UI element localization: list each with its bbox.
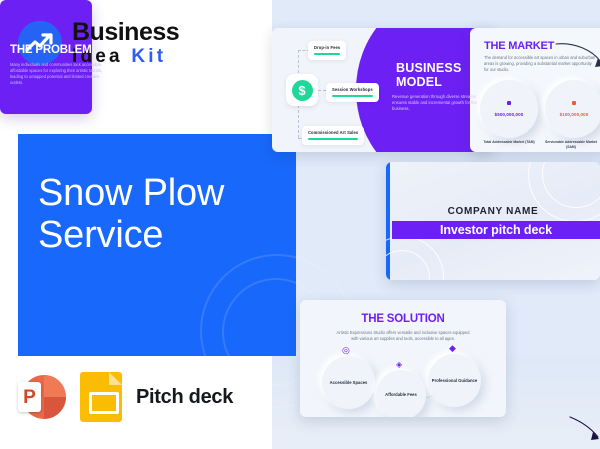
solution-body: Artistic Expressions Studio offers versa… [336,330,470,342]
curved-arrow-icon [554,38,600,72]
brand-logo: Business Idea Kit [18,20,179,66]
slide-business-model[interactable]: $ Drop-in Fees Session Workshops Commiss… [272,28,494,152]
slide-investor-pitch-deck[interactable]: COMPANY NAME Investor pitch deck [386,162,600,280]
hero-title: Snow Plow Service [38,172,288,256]
format-badges: P Pitch deck [18,372,233,422]
metric-dot [572,101,576,105]
solution-title: THE SOLUTION [300,313,506,325]
slide-the-solution[interactable]: THE SOLUTION Artistic Expressions Studio… [300,300,506,417]
powerpoint-quadrant-bottom [44,397,66,419]
underline-rule [314,53,340,55]
solution-item-label: Professional Guidance [432,378,477,383]
brand-wordmark: Business Idea Kit [72,20,179,66]
solution-item[interactable]: Professional Guidance [428,354,481,407]
problem-title: THE PROBLEM [10,44,92,56]
market-metric: $100,000,000 [545,80,600,138]
solution-item-label: Accessible Spaces [330,380,368,385]
business-model-item[interactable]: Session Workshops [326,83,379,102]
solution-item[interactable]: Affordable Fees [376,370,426,417]
pitch-company-name: COMPANY NAME [386,206,600,217]
google-slides-icon [80,372,122,422]
format-badge-label: Pitch deck [136,386,233,409]
powerpoint-letter: P [23,388,36,407]
metric-value: $100,000,000 [560,112,589,117]
market-title: THE MARKET [484,40,554,52]
slides-frame [89,392,119,414]
diamond-icon: ◆ [449,344,456,353]
business-model-item[interactable]: Drop-in Fees [308,41,346,60]
powerpoint-quadrant-top [44,375,66,397]
dollar-coin-icon: $ [286,74,318,106]
metric-caption: Serviceable Addressable Market (SAM) [544,140,598,149]
brand-line-1: Business [72,20,179,45]
brand-line-2-accent: Kit [131,46,166,67]
microsoft-powerpoint-icon: P [18,373,66,421]
market-metrics: $500,000,000 $100,000,000 [480,80,600,138]
business-model-item-label: Session Workshops [332,87,373,92]
slide-the-market[interactable]: THE MARKET The demand for accessible art… [470,28,600,152]
problem-body: Many individuals and communities lack ac… [10,62,92,86]
business-model-body: Revenue generation through diverse strea… [392,94,480,112]
metric-caption: Total Addressable Market (TAM) [482,140,536,145]
growth-chart-arrow-icon [18,21,62,65]
coin-circle-icon: ◈ [396,361,402,369]
solution-item[interactable]: Accessible Spaces [322,356,375,409]
lightbulb-icon: ◎ [342,346,350,355]
poster-canvas: Business Idea Kit Snow Plow Service P Pi… [0,0,600,449]
market-metric: $500,000,000 [480,80,538,138]
business-model-item-label: Commissioned Art Sales [308,130,358,135]
business-model-item[interactable]: Commissioned Art Sales [302,126,364,145]
pitch-headline: Investor pitch deck [440,223,552,237]
metric-value: $500,000,000 [495,112,524,117]
business-model-title: BUSINESS MODEL [396,62,480,89]
pitch-headline-band: Investor pitch deck [392,221,600,239]
metric-dot [507,101,511,105]
underline-rule [308,138,358,140]
solution-item-label: Affordable Fees [385,392,417,397]
underline-rule [332,95,373,97]
powerpoint-letter-card: P [18,382,41,412]
business-model-item-label: Drop-in Fees [314,45,340,50]
